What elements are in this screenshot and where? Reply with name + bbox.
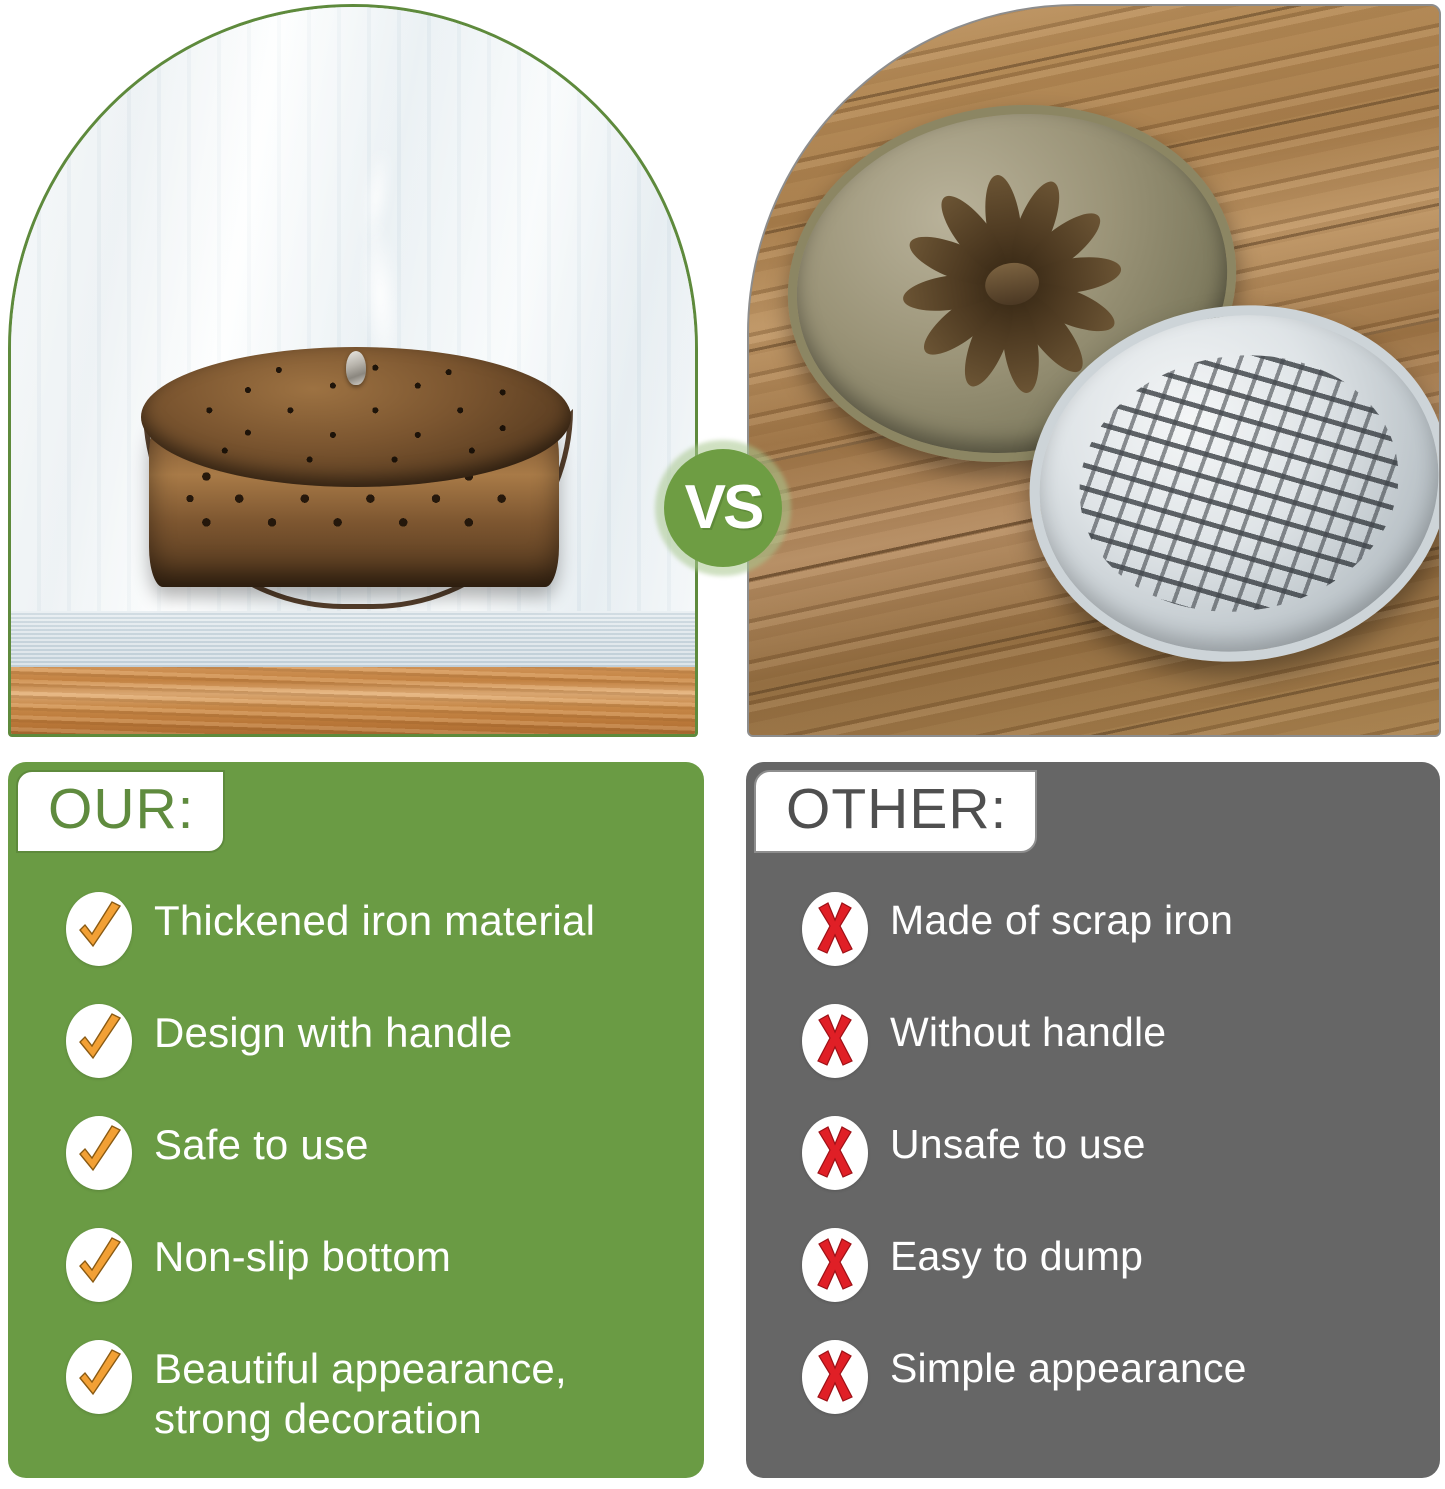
other-panel-tag-label: OTHER:	[786, 777, 1007, 841]
our-panel: OUR: Thickened iron material Design with…	[8, 762, 704, 1478]
list-item-label: Easy to dump	[890, 1226, 1143, 1280]
other-panel-tag: OTHER:	[754, 770, 1037, 853]
list-item: Without handle	[802, 1002, 1414, 1078]
check-icon	[66, 892, 132, 966]
list-item: Thickened iron material	[66, 890, 678, 966]
list-item: Non-slip bottom	[66, 1226, 678, 1302]
list-item: Unsafe to use	[802, 1114, 1414, 1190]
other-panel: OTHER: Made of scrap iron Without handle	[746, 762, 1440, 1478]
burner-knob	[346, 351, 366, 385]
list-item: Safe to use	[66, 1114, 678, 1190]
list-item: Beautiful appearance, strong decoration	[66, 1338, 678, 1443]
check-icon	[66, 1228, 132, 1302]
check-icon	[66, 1004, 132, 1078]
coil-burner-product	[141, 347, 571, 607]
list-item-label: Safe to use	[154, 1114, 369, 1170]
list-item: Simple appearance	[802, 1338, 1414, 1414]
comparison-panels: OUR: Thickened iron material Design with…	[0, 762, 1445, 1489]
list-item: Easy to dump	[802, 1226, 1414, 1302]
list-item-label: Unsafe to use	[890, 1114, 1146, 1168]
photo-wood-edge	[11, 667, 695, 734]
list-item: Made of scrap iron	[802, 890, 1414, 966]
list-item-label: Without handle	[890, 1002, 1166, 1056]
list-item-label: Beautiful appearance, strong decoration	[154, 1338, 567, 1443]
list-item: Design with handle	[66, 1002, 678, 1078]
cross-icon	[802, 892, 868, 966]
our-panel-tag: OUR:	[16, 770, 225, 853]
list-item-label: Design with handle	[154, 1002, 513, 1058]
check-icon	[66, 1340, 132, 1414]
check-icon	[66, 1116, 132, 1190]
list-item-label: Made of scrap iron	[890, 890, 1233, 944]
other-product-photo	[747, 4, 1441, 737]
our-product-photo	[8, 4, 698, 737]
cross-icon	[802, 1228, 868, 1302]
our-panel-tag-label: OUR:	[48, 777, 195, 841]
product-comparison-photos: VS	[0, 0, 1445, 745]
photo-table-surface	[11, 611, 695, 675]
vs-badge: VS	[655, 440, 791, 576]
list-item-label: Thickened iron material	[154, 890, 595, 946]
list-item-label: Simple appearance	[890, 1338, 1247, 1392]
punched-holes-pattern	[1063, 335, 1415, 632]
cross-icon	[802, 1340, 868, 1414]
vs-badge-circle: VS	[664, 449, 782, 567]
list-item-label: Non-slip bottom	[154, 1226, 451, 1282]
cross-icon	[802, 1004, 868, 1078]
our-feature-list: Thickened iron material Design with hand…	[8, 890, 704, 1443]
other-feature-list: Made of scrap iron Without handle Unsafe…	[746, 890, 1440, 1414]
cross-icon	[802, 1116, 868, 1190]
vs-badge-label: VS	[685, 477, 762, 539]
